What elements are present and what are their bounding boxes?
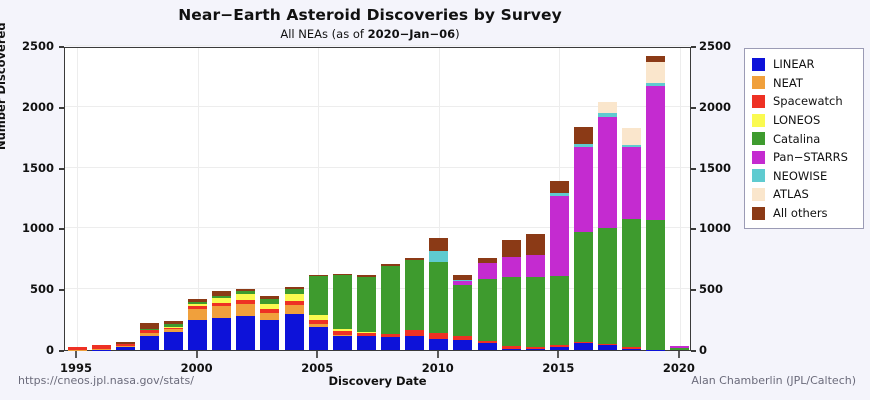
bar-1999[interactable] xyxy=(164,321,183,350)
x-tick-mark xyxy=(196,351,198,358)
legend: LINEARNEATSpacewatchLONEOSCatalinaPan−ST… xyxy=(744,48,864,229)
bar-segment-allothers xyxy=(550,181,569,193)
bar-1997[interactable] xyxy=(116,342,135,350)
bar-segment-panstarrs xyxy=(526,255,545,277)
bar-segment-allothers xyxy=(646,56,665,63)
x-tick-mark xyxy=(678,351,680,358)
plot-area xyxy=(64,47,691,351)
chart-subtitle-date: 2020−Jan−06 xyxy=(368,27,456,41)
bar-segment-neat xyxy=(188,309,207,319)
y-tick-mark-right xyxy=(691,46,696,48)
bar-2019[interactable] xyxy=(646,56,665,350)
bar-segment-spacewatch xyxy=(405,330,424,337)
legend-item-label: Pan−STARRS xyxy=(773,150,848,164)
bar-1996[interactable] xyxy=(92,345,111,350)
bar-segment-linear xyxy=(212,318,231,350)
bar-segment-neat xyxy=(212,306,231,317)
bar-segment-neat xyxy=(236,304,255,316)
y-tick-mark-left xyxy=(59,46,64,48)
y-tick-label-right: 1000 xyxy=(699,221,731,235)
bar-segment-panstarrs xyxy=(478,263,497,279)
bar-segment-linear xyxy=(381,337,400,350)
y-tick-label-left: 0 xyxy=(6,343,54,357)
legend-item-label: LONEOS xyxy=(773,113,820,127)
bar-2016[interactable] xyxy=(574,127,593,350)
bar-segment-linear xyxy=(598,345,617,350)
legend-item-neat[interactable]: NEAT xyxy=(752,74,857,93)
bar-2018[interactable] xyxy=(622,128,641,350)
source-url[interactable]: https://cneos.jpl.nasa.gov/stats/ xyxy=(18,374,194,387)
chart-subtitle-suffix: ) xyxy=(455,27,460,41)
bar-segment-panstarrs xyxy=(550,196,569,276)
bar-segment-allothers xyxy=(574,127,593,144)
bar-segment-linear xyxy=(429,339,448,350)
gridline-horizontal xyxy=(65,167,690,168)
bar-segment-neowise xyxy=(429,251,448,262)
bar-segment-linear xyxy=(502,349,521,350)
bar-2014[interactable] xyxy=(526,234,545,350)
gridline-vertical xyxy=(680,48,681,350)
y-tick-mark-left xyxy=(59,350,64,352)
bar-2015[interactable] xyxy=(550,181,569,350)
bar-2010[interactable] xyxy=(429,238,448,350)
bar-segment-panstarrs xyxy=(646,86,665,220)
bar-2008[interactable] xyxy=(381,264,400,350)
bar-segment-catalina xyxy=(622,219,641,347)
bar-segment-panstarrs xyxy=(502,257,521,276)
bar-segment-catalina xyxy=(550,276,569,344)
bar-2000[interactable] xyxy=(188,299,207,350)
bar-segment-catalina xyxy=(526,277,545,346)
gridline-horizontal xyxy=(65,45,690,46)
bar-2001[interactable] xyxy=(212,291,231,350)
y-tick-mark-left xyxy=(59,289,64,291)
legend-swatch-icon xyxy=(752,114,765,127)
legend-item-allothers[interactable]: All others xyxy=(752,204,857,223)
y-tick-mark-right xyxy=(691,168,696,170)
bar-segment-linear xyxy=(285,314,304,350)
bar-segment-catalina xyxy=(357,277,376,332)
legend-item-panstarrs[interactable]: Pan−STARRS xyxy=(752,148,857,167)
y-tick-mark-left xyxy=(59,228,64,230)
bar-segment-linear xyxy=(164,332,183,350)
legend-swatch-icon xyxy=(752,95,765,108)
y-tick-mark-left xyxy=(59,168,64,170)
bar-1998[interactable] xyxy=(140,323,159,350)
bar-segment-catalina xyxy=(309,276,328,315)
x-tick-label: 2005 xyxy=(297,361,337,375)
bar-segment-allothers xyxy=(502,240,521,258)
y-tick-label-right: 1500 xyxy=(699,161,731,175)
bar-segment-catalina xyxy=(478,279,497,341)
bar-segment-catalina xyxy=(381,266,400,334)
x-tick-mark xyxy=(75,351,77,358)
bar-segment-linear xyxy=(140,336,159,350)
bar-segment-panstarrs xyxy=(622,147,641,219)
bar-segment-catalina xyxy=(670,348,689,350)
legend-item-label: Catalina xyxy=(773,132,820,146)
bar-segment-linear xyxy=(526,349,545,350)
bar-2017[interactable] xyxy=(598,102,617,350)
bar-segment-catalina xyxy=(502,277,521,346)
legend-item-linear[interactable]: LINEAR xyxy=(752,55,857,74)
y-tick-label-left: 2500 xyxy=(6,39,54,53)
y-tick-label-left: 1500 xyxy=(6,161,54,175)
chart-root: Near−Earth Asteroid Discoveries by Surve… xyxy=(0,0,870,400)
bar-segment-linear xyxy=(478,343,497,350)
legend-item-label: ATLAS xyxy=(773,187,809,201)
legend-item-catalina[interactable]: Catalina xyxy=(752,129,857,148)
bar-segment-catalina xyxy=(453,285,472,336)
bar-segment-catalina xyxy=(429,262,448,333)
bar-segment-catalina xyxy=(598,228,617,344)
bar-segment-allothers xyxy=(429,238,448,251)
bar-2004[interactable] xyxy=(285,287,304,350)
bar-segment-neat xyxy=(285,305,304,314)
bar-segment-linear xyxy=(622,349,641,350)
credit-text: Alan Chamberlin (JPL/Caltech) xyxy=(691,374,856,387)
legend-swatch-icon xyxy=(752,188,765,201)
bar-segment-atlas xyxy=(622,128,641,145)
bar-segment-atlas xyxy=(646,62,665,83)
x-tick-label: 2020 xyxy=(659,361,699,375)
bar-2005[interactable] xyxy=(309,275,328,350)
y-tick-label-right: 2000 xyxy=(699,100,731,114)
gridline-vertical xyxy=(77,48,78,350)
gridline-horizontal xyxy=(65,288,690,289)
y-tick-mark-right xyxy=(691,350,696,352)
bar-segment-linear xyxy=(574,343,593,350)
bar-2007[interactable] xyxy=(357,275,376,350)
legend-item-label: Spacewatch xyxy=(773,94,843,108)
bar-2003[interactable] xyxy=(260,296,279,350)
bar-segment-atlas xyxy=(598,102,617,113)
bar-segment-linear xyxy=(453,340,472,350)
chart-subtitle: All NEAs (as of 2020−Jan−06) xyxy=(0,27,740,41)
bar-2006[interactable] xyxy=(333,274,352,350)
legend-swatch-icon xyxy=(752,132,765,145)
bar-segment-linear xyxy=(550,347,569,350)
bar-segment-panstarrs xyxy=(574,147,593,232)
bar-segment-linear xyxy=(309,327,328,350)
bar-segment-catalina xyxy=(646,220,665,350)
bar-segment-catalina xyxy=(405,260,424,329)
bar-2002[interactable] xyxy=(236,289,255,350)
gridline-horizontal xyxy=(65,106,690,107)
legend-swatch-icon xyxy=(752,76,765,89)
x-tick-label: 2015 xyxy=(538,361,578,375)
bar-segment-catalina xyxy=(574,232,593,341)
bar-segment-spacewatch xyxy=(429,333,448,340)
bar-segment-neat xyxy=(260,313,279,321)
y-tick-label-left: 1000 xyxy=(6,221,54,235)
bar-2012[interactable] xyxy=(478,258,497,350)
y-tick-label-right: 500 xyxy=(699,282,723,296)
chart-subtitle-prefix: All NEAs (as of xyxy=(280,27,367,41)
legend-item-neowise[interactable]: NEOWISE xyxy=(752,167,857,186)
chart-title: Near−Earth Asteroid Discoveries by Surve… xyxy=(0,6,740,24)
bar-2020[interactable] xyxy=(670,346,689,350)
x-tick-label: 2010 xyxy=(418,361,458,375)
x-tick-mark xyxy=(316,351,318,358)
x-tick-label: 2000 xyxy=(177,361,217,375)
bar-2013[interactable] xyxy=(502,240,521,351)
bar-segment-allothers xyxy=(526,234,545,256)
bar-segment-panstarrs xyxy=(598,117,617,228)
gridline-horizontal xyxy=(65,227,690,228)
bar-segment-linear xyxy=(357,336,376,350)
bar-segment-catalina xyxy=(333,275,352,329)
y-tick-mark-left xyxy=(59,107,64,109)
bar-segment-linear xyxy=(333,336,352,350)
y-tick-mark-right xyxy=(691,228,696,230)
y-tick-mark-right xyxy=(691,289,696,291)
legend-swatch-icon xyxy=(752,207,765,220)
bar-1995[interactable] xyxy=(68,347,87,351)
y-tick-label-right: 2500 xyxy=(699,39,731,53)
bar-segment-linear xyxy=(236,316,255,350)
legend-item-label: NEAT xyxy=(773,76,803,90)
legend-item-spacewatch[interactable]: Spacewatch xyxy=(752,92,857,111)
bar-segment-linear xyxy=(116,347,135,350)
legend-item-label: LINEAR xyxy=(773,57,815,71)
bar-segment-loneos xyxy=(285,294,304,301)
legend-item-loneos[interactable]: LONEOS xyxy=(752,111,857,130)
bar-segment-linear xyxy=(260,320,279,350)
y-tick-mark-right xyxy=(691,107,696,109)
y-tick-label-right: 0 xyxy=(699,343,707,357)
bar-2009[interactable] xyxy=(405,258,424,350)
bar-segment-linear xyxy=(188,320,207,350)
x-tick-mark xyxy=(557,351,559,358)
legend-item-label: NEOWISE xyxy=(773,169,827,183)
x-tick-mark xyxy=(437,351,439,358)
y-tick-label-left: 2000 xyxy=(6,100,54,114)
bar-2011[interactable] xyxy=(453,275,472,350)
bar-segment-linear xyxy=(405,336,424,350)
y-tick-label-left: 500 xyxy=(6,282,54,296)
x-tick-label: 1995 xyxy=(56,361,96,375)
legend-swatch-icon xyxy=(752,151,765,164)
legend-item-label: All others xyxy=(773,206,828,220)
legend-swatch-icon xyxy=(752,169,765,182)
legend-item-atlas[interactable]: ATLAS xyxy=(752,185,857,204)
legend-swatch-icon xyxy=(752,58,765,71)
